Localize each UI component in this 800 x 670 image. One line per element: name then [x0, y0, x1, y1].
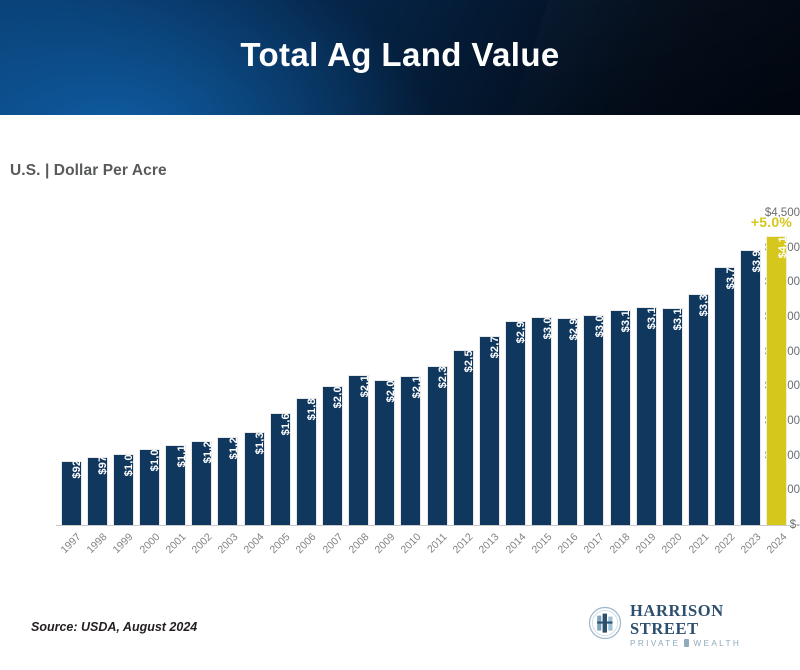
- bar-value-label: $1,210: [202, 429, 214, 464]
- x-axis-tick-label: 2001: [157, 531, 188, 562]
- bar[interactable]: $2,010: [322, 386, 343, 525]
- x-axis-tick-label: 2016: [549, 531, 580, 562]
- bar-value-label: $2,090: [385, 368, 397, 403]
- bar[interactable]: $3,030: [583, 315, 604, 525]
- x-axis-tick-label: 2009: [366, 531, 397, 562]
- bar-slot: $2,010: [322, 213, 343, 525]
- bar[interactable]: $2,090: [374, 380, 395, 525]
- brand-tagline-right: WEALTH: [693, 638, 741, 648]
- bar-slot: $2,150: [400, 213, 421, 525]
- x-axis-tick-label: 2008: [340, 531, 371, 562]
- bar[interactable]: $2,300: [427, 366, 448, 525]
- bar-value-label: $3,970: [751, 237, 763, 272]
- bar-value-label: $2,990: [568, 305, 580, 340]
- bar-slot: $2,090: [374, 213, 395, 525]
- bar-value-label: $3,330: [698, 282, 710, 317]
- bar-value-label: $2,940: [515, 309, 527, 344]
- x-axis-tick-label: 2003: [209, 531, 240, 562]
- bar[interactable]: $2,730: [479, 336, 500, 525]
- bar-value-label: $3,130: [672, 296, 684, 331]
- x-axis-tick-label: 2019: [628, 531, 659, 562]
- x-axis-tick-label: 2011: [418, 531, 449, 562]
- bar[interactable]: $3,130: [662, 308, 683, 525]
- bar[interactable]: $3,000: [531, 317, 552, 525]
- x-axis-tick-label: 2002: [183, 531, 214, 562]
- brand-logo-text: HARRISON STREET PRIVATE WEALTH: [630, 602, 764, 648]
- bar[interactable]: $3,720: [714, 267, 735, 525]
- bar[interactable]: $3,330: [688, 294, 709, 525]
- bar-slot: $3,970: [740, 213, 761, 525]
- x-axis-tick-label: 2007: [314, 531, 345, 562]
- x-axis-tick-label: 2024: [758, 531, 789, 562]
- bar-value-label: $2,730: [489, 323, 501, 358]
- bar-slot: $1,270: [217, 213, 238, 525]
- bar[interactable]: $1,090: [139, 449, 160, 525]
- bar-value-label: $1,030: [123, 441, 135, 476]
- growth-annotation: +5.0%: [751, 214, 792, 230]
- brand-tagline: PRIVATE WEALTH: [630, 638, 764, 648]
- x-axis-tick-label: 2017: [575, 531, 606, 562]
- bar-slot: $4,170: [766, 213, 787, 525]
- bar[interactable]: $3,970: [740, 250, 761, 525]
- bar-slot: $1,340: [244, 213, 265, 525]
- bar-value-label: $3,140: [646, 295, 658, 330]
- bar-slot: $1,830: [296, 213, 317, 525]
- bar[interactable]: $1,030: [113, 454, 134, 525]
- bar-slot: $1,150: [165, 213, 186, 525]
- bar[interactable]: $2,170: [348, 375, 369, 525]
- bar[interactable]: $3,140: [636, 307, 657, 525]
- x-axis-tick-label: 1998: [79, 531, 110, 562]
- bar[interactable]: $2,150: [400, 376, 421, 525]
- bar-value-label: $2,150: [411, 364, 423, 399]
- bar-value-label: $2,520: [463, 338, 475, 373]
- bar[interactable]: $1,830: [296, 398, 317, 525]
- bar[interactable]: $2,520: [453, 350, 474, 525]
- bar-highlighted[interactable]: $4,170: [766, 236, 787, 525]
- bar-value-label: $1,150: [176, 433, 188, 468]
- slide-canvas: Total Ag Land Value U.S. | Dollar Per Ac…: [0, 0, 800, 670]
- bar[interactable]: $2,990: [557, 318, 578, 525]
- bar[interactable]: $1,150: [165, 445, 186, 525]
- bar-slot: $2,940: [505, 213, 526, 525]
- bar-value-label: $1,090: [149, 437, 161, 472]
- bar[interactable]: $1,210: [191, 441, 212, 525]
- bar[interactable]: $1,270: [217, 437, 238, 525]
- x-axis-baseline: [56, 525, 792, 526]
- plot-area: $926$974$1,030$1,090$1,150$1,210$1,270$1…: [58, 213, 790, 525]
- x-axis-tick-label: 2012: [445, 531, 476, 562]
- bar[interactable]: $1,340: [244, 432, 265, 525]
- x-axis-tick-label: 2010: [392, 531, 423, 562]
- x-axis-tick-label: 1997: [52, 531, 83, 562]
- bar-value-label: $2,170: [359, 362, 371, 397]
- bar-value-label: $3,030: [594, 302, 606, 337]
- bar-value-label: $1,610: [280, 401, 292, 436]
- bar-value-label: $1,340: [254, 420, 266, 455]
- harrison-street-emblem-icon: [588, 606, 622, 645]
- source-note: Source: USDA, August 2024: [31, 620, 197, 634]
- bar-slot: $926: [61, 213, 82, 525]
- x-axis-tick-label: 2004: [235, 531, 266, 562]
- page-title: Total Ag Land Value: [0, 36, 800, 74]
- x-axis-tick-label: 2013: [471, 531, 502, 562]
- bar[interactable]: $1,610: [270, 413, 291, 525]
- bar-slot: $2,300: [427, 213, 448, 525]
- x-axis-tick-label: 1999: [105, 531, 136, 562]
- bar-value-label: $3,100: [620, 298, 632, 333]
- bar-value-label: $2,010: [332, 373, 344, 408]
- harrison-street-logo: HARRISON STREET PRIVATE WEALTH: [588, 606, 764, 644]
- bar-value-label: $1,270: [228, 425, 240, 460]
- x-axis-tick-label: 2015: [523, 531, 554, 562]
- bar-slot: $1,090: [139, 213, 160, 525]
- bar-value-label: $974: [97, 450, 109, 475]
- bar-slot: $2,730: [479, 213, 500, 525]
- brand-name: HARRISON STREET: [630, 602, 764, 637]
- x-axis-tick-label: 2014: [497, 531, 528, 562]
- bar-slot: $2,520: [453, 213, 474, 525]
- bar-slot: $1,210: [191, 213, 212, 525]
- bar[interactable]: $974: [87, 457, 108, 525]
- bar[interactable]: $3,100: [610, 310, 631, 525]
- bar-value-label: $3,000: [542, 305, 554, 340]
- bar-slot: $2,170: [348, 213, 369, 525]
- x-axis-tick-label: 2022: [706, 531, 737, 562]
- bar-slot: $974: [87, 213, 108, 525]
- bar-slot: $1,610: [270, 213, 291, 525]
- bar-value-label: $2,300: [437, 353, 449, 388]
- bar-value-label: $926: [71, 453, 83, 478]
- bar-value-label: $1,830: [306, 386, 318, 421]
- x-axis-tick-label: 2021: [680, 531, 711, 562]
- x-axis-tick-label: 2005: [262, 531, 293, 562]
- bar-slot: $2,990: [557, 213, 578, 525]
- bar-slot: $3,130: [662, 213, 683, 525]
- bar-slot: $3,000: [531, 213, 552, 525]
- bar-slot: $1,030: [113, 213, 134, 525]
- bar-slot: $3,140: [636, 213, 657, 525]
- bar-value-label: $3,720: [725, 255, 737, 290]
- bar[interactable]: $2,940: [505, 321, 526, 525]
- bar-slot: $3,100: [610, 213, 631, 525]
- x-axis-tick-label: 2000: [131, 531, 162, 562]
- bar-slot: $3,030: [583, 213, 604, 525]
- x-axis-tick-label: 2020: [654, 531, 685, 562]
- brand-tagline-separator-icon: [684, 639, 689, 647]
- bar-slot: $3,720: [714, 213, 735, 525]
- x-axis-tick-label: 2023: [732, 531, 763, 562]
- bar[interactable]: $926: [61, 461, 82, 525]
- x-axis-tick-label: 2006: [288, 531, 319, 562]
- x-axis-tick-label: 2018: [601, 531, 632, 562]
- bar-slot: $3,330: [688, 213, 709, 525]
- brand-tagline-left: PRIVATE: [630, 638, 680, 648]
- bar-chart: $4,500$4,000$3,500$3,000$2,500$2,000$1,5…: [0, 0, 800, 600]
